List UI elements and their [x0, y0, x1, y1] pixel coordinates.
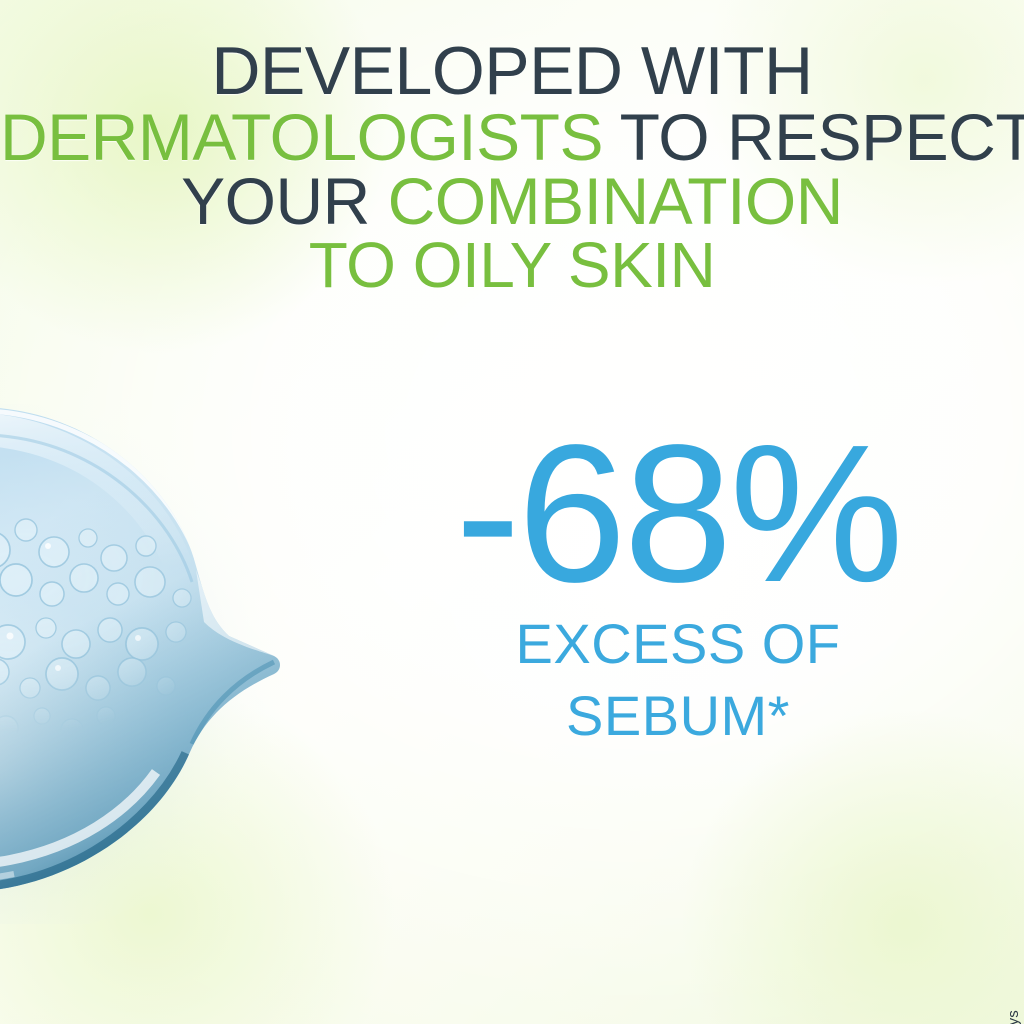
- footnote: *Sebumetry test on 20 volunteers, 28 day…: [1005, 1010, 1022, 1024]
- headline-line-3-green-text: COMBINATION: [388, 164, 843, 238]
- footnote-text: *Sebumetry test on 20 volunteers, 28 day…: [1005, 1010, 1022, 1024]
- claim-subtitle-line-2: SEBUM*: [398, 684, 958, 748]
- headline-line-2: DERMATOLOGISTS TO RESPECT: [0, 105, 1024, 170]
- headline-line-2-green-text: DERMATOLOGISTS: [0, 100, 620, 174]
- claim-block: -68% EXCESS OF SEBUM*: [398, 424, 958, 748]
- headline-line-2-dark-text: TO RESPECT: [620, 100, 1024, 174]
- headline-line-3: YOUR COMBINATION: [0, 169, 1024, 234]
- headline-line-1: DEVELOPED WITH: [0, 38, 1024, 105]
- gel-droplet-image: [0, 404, 404, 924]
- headline-line-4: TO OILY SKIN: [0, 234, 1024, 297]
- headline-line-4-green-text: TO OILY SKIN: [309, 229, 716, 301]
- headline-line-1-text: DEVELOPED WITH: [211, 33, 812, 109]
- claim-percentage: -68%: [398, 424, 958, 604]
- headline-line-3-dark-text: YOUR: [181, 164, 388, 238]
- headline-block: DEVELOPED WITH DERMATOLOGISTS TO RESPECT…: [0, 38, 1024, 297]
- product-claim-poster: DEVELOPED WITH DERMATOLOGISTS TO RESPECT…: [0, 0, 1024, 1024]
